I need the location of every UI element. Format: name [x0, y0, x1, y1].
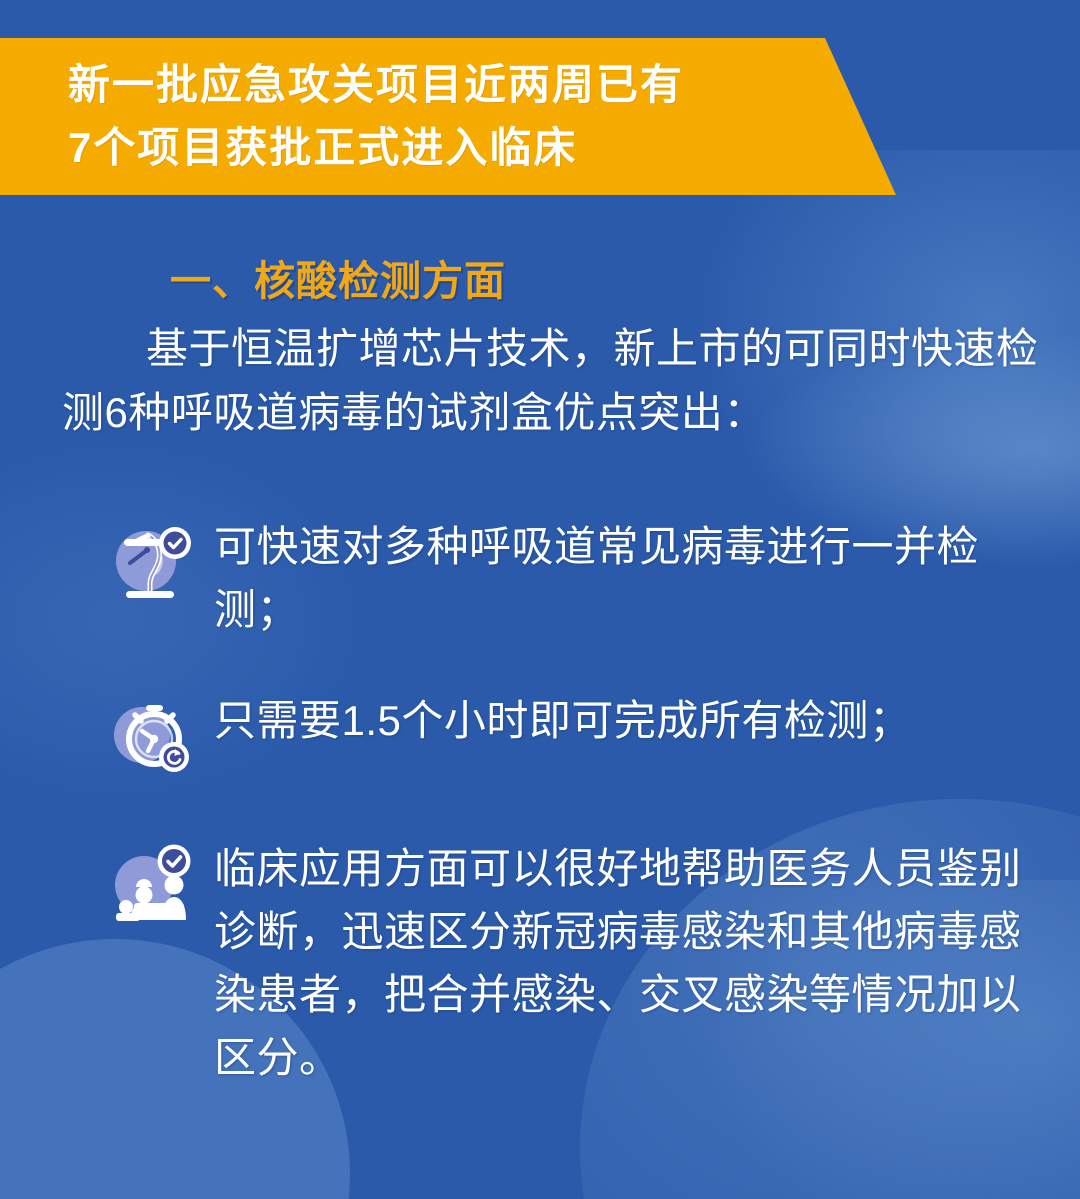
banner-title-line-1: 新一批应急攻关项目近两周已有: [68, 54, 900, 116]
intro-paragraph: 基于恒温扩增芯片技术，新上市的可同时快速检测6种呼吸道病毒的试剂盒优点突出：: [62, 317, 1050, 445]
medical-staff-check-icon: [104, 837, 200, 933]
list-item: 只需要1.5个小时即可完成所有检测；: [104, 685, 1046, 781]
section-heading: 一、核酸检测方面: [170, 247, 1080, 307]
banner-title-line-2: 7个项目获批正式进入临床: [68, 117, 900, 179]
poster-content: 一、核酸检测方面 基于恒温扩增芯片技术，新上市的可同时快速检测6种呼吸道病毒的试…: [0, 195, 1080, 1133]
benefit-list: 可快速对多种呼吸道常见病毒进行一并检测；: [0, 511, 1080, 1089]
list-item-label: 只需要1.5个小时即可完成所有检测；: [214, 685, 911, 752]
list-item-label: 可快速对多种呼吸道常见病毒进行一并检测；: [214, 511, 1046, 641]
list-item-label: 临床应用方面可以很好地帮助医务人员鉴别诊断，迅速区分新冠病毒感染和其他病毒感染患…: [214, 833, 1046, 1089]
list-item: 临床应用方面可以很好地帮助医务人员鉴别诊断，迅速区分新冠病毒感染和其他病毒感染患…: [104, 833, 1046, 1089]
list-item: 可快速对多种呼吸道常见病毒进行一并检测；: [104, 511, 1046, 641]
swab-test-check-icon: [104, 513, 200, 609]
header-banner: 新一批应急攻关项目近两周已有 7个项目获批正式进入临床: [0, 38, 900, 195]
stopwatch-refresh-icon: [104, 687, 200, 783]
